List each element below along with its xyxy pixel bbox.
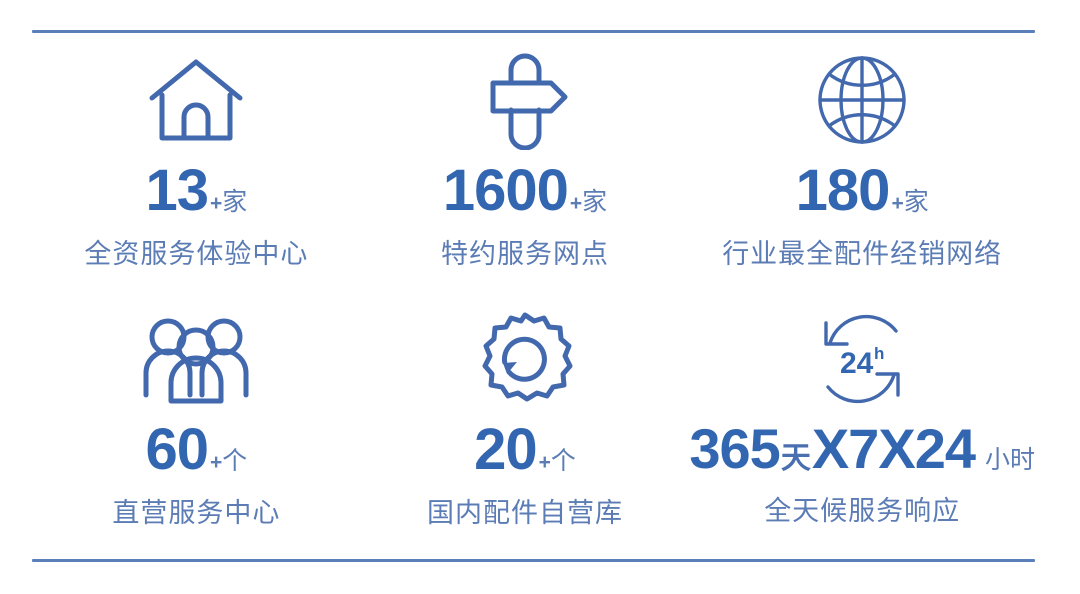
gear-refresh-icon xyxy=(474,303,576,415)
stat-figure-line: 365天X7X24小时 xyxy=(689,421,1035,477)
stat-cell-parts-distribution-network: 180 +家 行业最全配件经销网络 xyxy=(689,44,1035,297)
stat-suffix: +家 xyxy=(570,190,607,215)
stat-figure-line: 20 +个 xyxy=(474,421,576,479)
cycle-24h-icon: 24 h xyxy=(804,303,920,415)
stat-figure-line: 1600 +家 xyxy=(443,162,607,220)
divider-top xyxy=(32,30,1035,33)
stat-unit: 家 xyxy=(582,188,607,216)
stat-unit: 个 xyxy=(222,447,247,475)
stat-unit: 家 xyxy=(222,188,247,216)
stat-label: 全天候服务响应 xyxy=(764,489,960,528)
stat-suffix: +家 xyxy=(891,190,928,215)
stat-unit: 家 xyxy=(904,188,929,216)
stat-cell-direct-service-centers: 60 +个 直营服务中心 xyxy=(32,297,361,550)
stat-unit-hours: 小时 xyxy=(985,448,1035,473)
plus-sign: + xyxy=(210,451,222,474)
divider-bottom xyxy=(32,559,1035,562)
stat-suffix: +个 xyxy=(539,449,576,474)
stat-cell-allday-service-response: 24 h 365天X7X24小时 全天候服务响应 xyxy=(689,297,1035,550)
people-group-icon xyxy=(137,303,255,415)
stat-label: 全资服务体验中心 xyxy=(84,232,308,271)
infographic-board: 13 +家 全资服务体验中心 1600 +家 特约服务网点 xyxy=(0,0,1080,594)
stat-figure: 60 xyxy=(145,421,208,479)
plus-sign: + xyxy=(570,192,582,215)
stat-label: 特约服务网点 xyxy=(441,232,609,271)
stat-figure-line: 13 +家 xyxy=(145,162,247,220)
stat-figure: 180 xyxy=(796,162,890,220)
stat-figure: 13 xyxy=(145,162,208,220)
stat-figure-days: 365 xyxy=(689,421,779,477)
stat-label: 直营服务中心 xyxy=(112,491,280,530)
signpost-icon xyxy=(473,44,577,156)
stat-suffix: +家 xyxy=(210,190,247,215)
house-icon xyxy=(144,44,248,156)
cycle-24h-text: 24 xyxy=(840,347,874,380)
plus-sign: + xyxy=(891,192,903,215)
stat-figure-weekdays: 7 xyxy=(848,421,878,477)
stat-suffix: +个 xyxy=(210,449,247,474)
stat-unit-days: 天 xyxy=(781,444,811,474)
plus-sign: + xyxy=(539,451,551,474)
stat-figure-line: 180 +家 xyxy=(796,162,929,220)
stat-cell-authorized-service-outlets: 1600 +家 特约服务网点 xyxy=(361,44,690,297)
stat-figure-hours: 24 xyxy=(915,421,975,477)
stat-figure-line: 60 +个 xyxy=(145,421,247,479)
stat-label: 行业最全配件经销网络 xyxy=(722,232,1002,271)
stat-cell-domestic-parts-warehouses: 20 +个 国内配件自营库 xyxy=(361,297,690,550)
plus-sign: + xyxy=(210,192,222,215)
cycle-24h-sup: h xyxy=(874,344,884,363)
stat-figure: 1600 xyxy=(443,162,568,220)
stat-cell-service-experience-center: 13 +家 全资服务体验中心 xyxy=(32,44,361,297)
stats-grid: 13 +家 全资服务体验中心 1600 +家 特约服务网点 xyxy=(32,44,1035,549)
stat-unit: 个 xyxy=(551,447,576,475)
multiply-sign-2: X xyxy=(878,421,914,477)
stat-label: 国内配件自营库 xyxy=(427,491,623,530)
stat-figure: 20 xyxy=(474,421,537,479)
multiply-sign-1: X xyxy=(812,421,848,477)
globe-icon xyxy=(812,44,912,156)
